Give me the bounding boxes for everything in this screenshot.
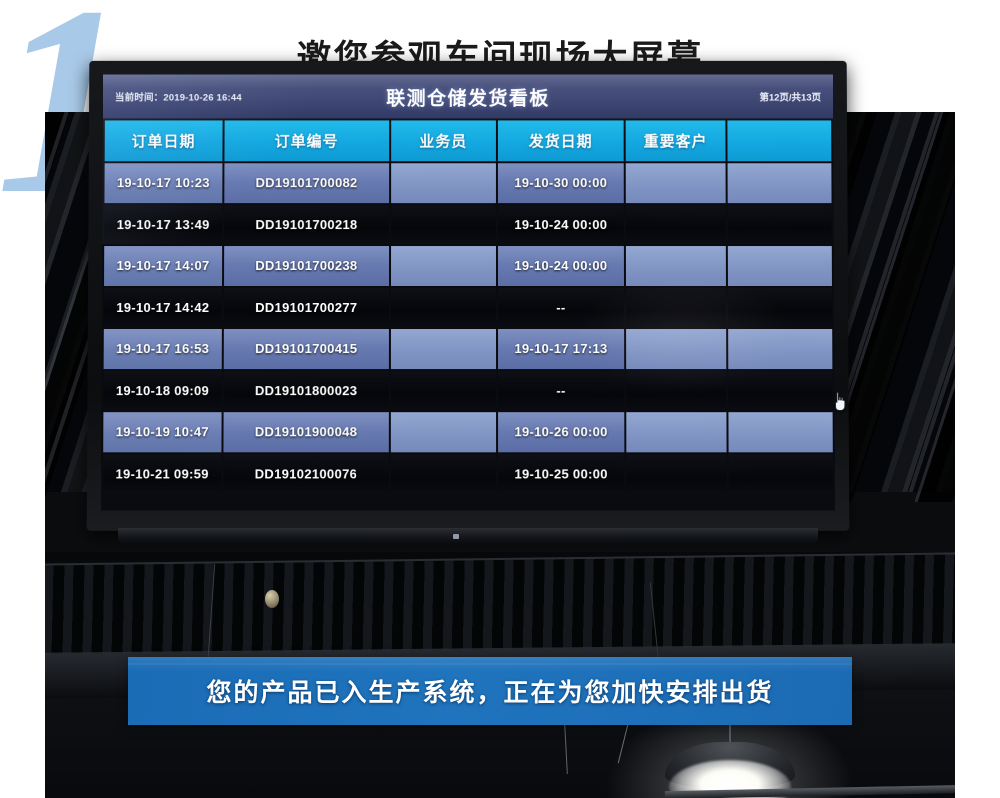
table-header-row: 订单日期 订单编号 业务员 发货日期 重要客户: [105, 120, 832, 161]
cell-salesperson: [391, 371, 496, 411]
column-header-order-date[interactable]: 订单日期: [105, 120, 223, 161]
cell-order-date: 19-10-17 14:42: [104, 288, 222, 328]
wall-mounted-tv: 当前时间：2019-10-26 16:44 联测仓储发货看板 第12页/共13页…: [88, 60, 848, 530]
caption-banner: 您的产品已入生产系统，正在为您加快安排出货: [128, 657, 852, 725]
column-header-order-no[interactable]: 订单编号: [224, 120, 389, 161]
cell-key-customer: [626, 329, 726, 369]
air-duct: [45, 552, 955, 656]
column-header-key-customer[interactable]: 重要客户: [626, 120, 726, 161]
cell-order-date: 19-10-17 13:49: [104, 205, 222, 244]
cell-salesperson: [391, 329, 496, 369]
cell-extra: [728, 454, 833, 494]
cell-ship-date: 19-10-24 00:00: [498, 246, 624, 285]
caption-text: 您的产品已入生产系统，正在为您加快安排出货: [206, 673, 773, 709]
cell-order-date: 19-10-21 09:59: [103, 454, 221, 494]
cell-order-date: 19-10-19 10:47: [103, 412, 221, 452]
cell-salesperson: [391, 412, 496, 452]
table-row[interactable]: 19-10-17 10:23DD1910170008219-10-30 00:0…: [104, 163, 831, 202]
cell-salesperson: [391, 454, 496, 494]
cell-ship-date: 19-10-30 00:00: [498, 163, 624, 202]
table-row[interactable]: 19-10-17 16:53DD1910170041519-10-17 17:1…: [104, 329, 833, 369]
dashboard-header-bar: 当前时间：2019-10-26 16:44 联测仓储发货看板 第12页/共13页: [103, 75, 833, 119]
cell-ship-date: --: [498, 288, 624, 328]
cell-salesperson: [391, 205, 496, 244]
table-row[interactable]: 19-10-17 13:49DD1910170021819-10-24 00:0…: [104, 205, 832, 244]
cell-extra: [728, 329, 832, 369]
table-row[interactable]: 19-10-21 09:59DD1910210007619-10-25 00:0…: [103, 454, 833, 494]
cell-extra: [728, 246, 832, 285]
cell-order-date: 19-10-17 10:23: [104, 163, 222, 202]
cell-order-date: 19-10-17 16:53: [104, 329, 222, 369]
cell-key-customer: [626, 454, 726, 494]
cell-order-no: DD19101900048: [223, 412, 389, 452]
cell-order-no: DD19102100076: [223, 454, 389, 494]
table-row[interactable]: 19-10-17 14:07DD1910170023819-10-24 00:0…: [104, 246, 832, 285]
cell-salesperson: [391, 288, 496, 328]
cell-order-no: DD19101800023: [223, 371, 388, 411]
cell-extra: [728, 371, 832, 411]
table-row[interactable]: 19-10-19 10:47DD1910190004819-10-26 00:0…: [103, 412, 833, 452]
shipping-board-table: 订单日期 订单编号 业务员 发货日期 重要客户 19-10-17 10:23DD…: [101, 118, 835, 495]
cell-key-customer: [626, 205, 726, 244]
cell-order-date: 19-10-18 09:09: [103, 371, 221, 411]
column-header-ship-date[interactable]: 发货日期: [498, 120, 624, 161]
cell-extra: [728, 205, 832, 244]
table-row[interactable]: 19-10-18 09:09DD19101800023--: [103, 371, 832, 411]
cell-ship-date: 19-10-25 00:00: [498, 454, 625, 494]
table-row[interactable]: 19-10-17 14:42DD19101700277--: [104, 288, 832, 328]
column-header-extra[interactable]: [727, 120, 831, 161]
cell-key-customer: [626, 288, 726, 328]
cell-key-customer: [626, 412, 726, 452]
cell-salesperson: [391, 246, 496, 285]
cell-order-no: DD19101700277: [224, 288, 389, 328]
cell-key-customer: [626, 163, 726, 202]
cell-key-customer: [626, 246, 726, 285]
power-led-icon: [453, 534, 459, 539]
dashboard-title: 联测仓储发货看板: [103, 83, 833, 110]
cell-ship-date: 19-10-24 00:00: [498, 205, 624, 244]
shipping-board-body: 19-10-17 10:23DD1910170008219-10-30 00:0…: [103, 163, 833, 493]
cell-ship-date: --: [498, 371, 625, 411]
duct-knob: [265, 590, 279, 608]
cell-order-date: 19-10-17 14:07: [104, 246, 222, 285]
column-header-salesperson[interactable]: 业务员: [391, 120, 496, 161]
cell-extra: [727, 163, 831, 202]
cell-extra: [728, 412, 833, 452]
cell-ship-date: 19-10-17 17:13: [498, 329, 625, 369]
cell-order-no: DD19101700082: [224, 163, 389, 202]
cell-extra: [728, 288, 832, 328]
cell-order-no: DD19101700415: [223, 329, 388, 369]
tv-bottom-bezel: [118, 528, 818, 544]
dashboard-screen: 当前时间：2019-10-26 16:44 联测仓储发货看板 第12页/共13页…: [101, 75, 835, 511]
cell-salesperson: [391, 163, 496, 202]
cell-ship-date: 19-10-26 00:00: [498, 412, 625, 452]
cell-key-customer: [626, 371, 726, 411]
cell-order-no: DD19101700218: [224, 205, 389, 244]
cell-order-no: DD19101700238: [224, 246, 389, 285]
